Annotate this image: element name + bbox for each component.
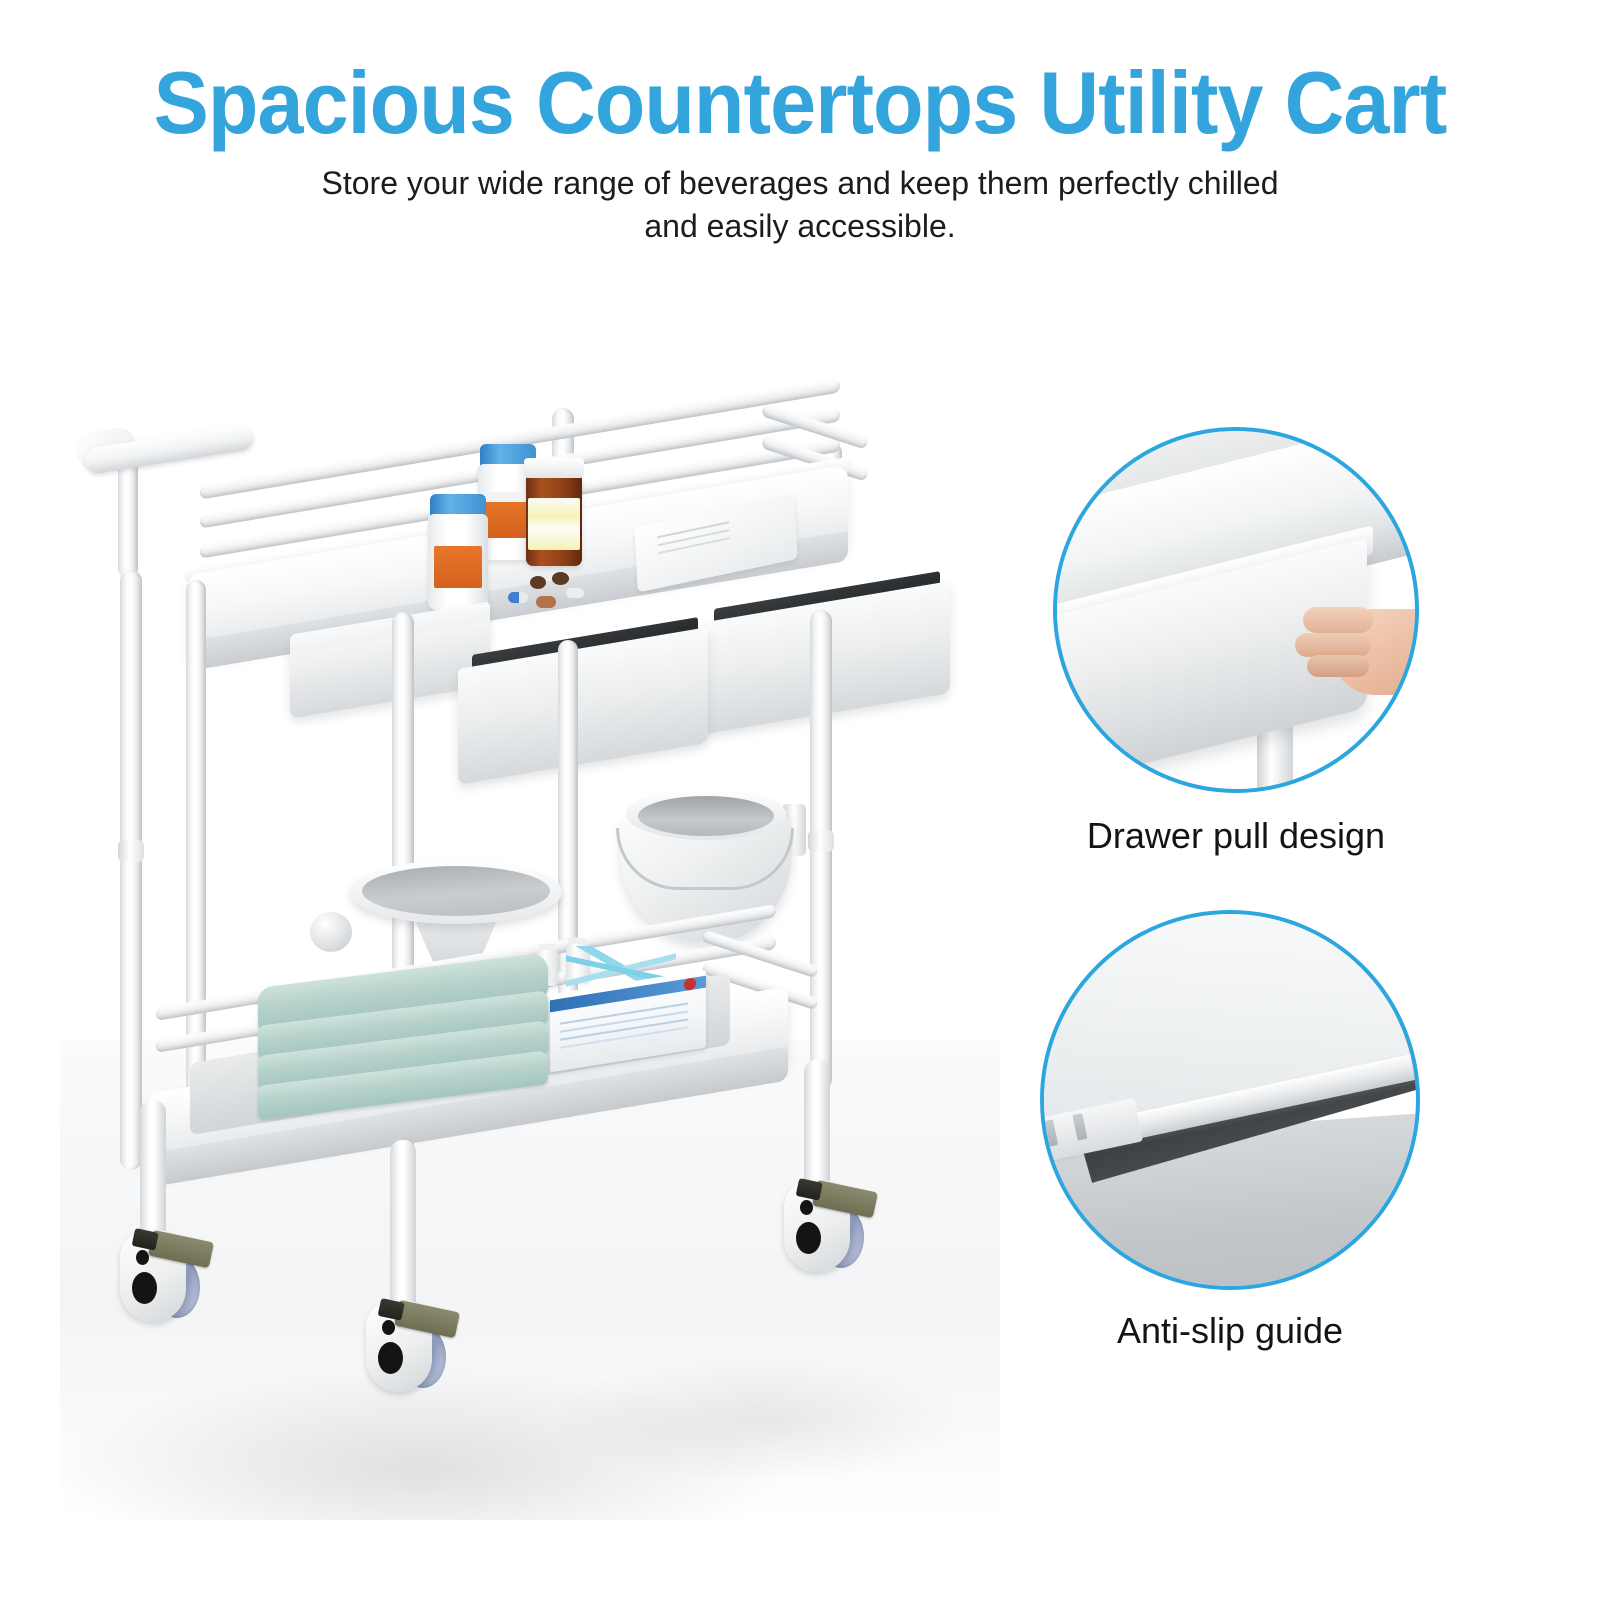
hand-finger-2 <box>1295 633 1371 657</box>
cart-leg-front-left <box>186 580 206 1140</box>
caster-hole-large-right <box>796 1222 821 1254</box>
bottle-label-orange-front <box>434 546 482 588</box>
hand-finger-3 <box>1307 655 1369 677</box>
caster-hole-large-front <box>378 1342 403 1374</box>
bottle-label-white-rear <box>484 492 532 502</box>
hand-finger-1 <box>1303 607 1373 633</box>
dirt-bowl-interior <box>362 866 550 916</box>
pill-capsule-tan <box>536 596 556 608</box>
hand-icon <box>1297 591 1419 701</box>
caster-hole-small-left <box>136 1250 149 1265</box>
leg-collar-right <box>808 830 834 852</box>
product-image-utility-cart <box>60 400 1000 1520</box>
callout-circle-anti-slip <box>1040 910 1420 1290</box>
caster-wheel-left[interactable] <box>114 1230 206 1330</box>
callout-circle-drawer-pull <box>1053 427 1419 793</box>
pill-brown-1 <box>530 576 546 589</box>
callout-drawer-pull: Drawer pull design <box>1053 427 1419 867</box>
page-title: Spacious Countertops Utility Cart <box>48 58 1552 148</box>
callout-caption-drawer-pull: Drawer pull design <box>1053 815 1419 857</box>
pill-brown-2 <box>552 572 569 585</box>
caster-hole-large-left <box>132 1272 157 1304</box>
bucket-interior <box>638 796 774 836</box>
prescription-bottle-label <box>528 498 580 550</box>
caster-hole-small-front <box>382 1320 395 1335</box>
callout-anti-slip: Anti-slip guide <box>1040 910 1420 1360</box>
subtitle-line-1: Store your wide range of beverages and k… <box>322 165 1279 201</box>
page-subtitle: Store your wide range of beverages and k… <box>0 162 1600 247</box>
dirt-bowl-knob[interactable] <box>310 912 352 952</box>
prescription-bottle-cap <box>524 458 584 478</box>
folded-towel-stack <box>258 970 548 1110</box>
bottle-label-orange-rear <box>484 498 532 538</box>
caster-hole-small-right <box>800 1200 813 1215</box>
page-root: Spacious Countertops Utility Cart Store … <box>0 0 1600 1600</box>
leg-collar-left <box>118 840 144 862</box>
cart-leg-rear-left <box>120 570 142 1170</box>
caster-wheel-right[interactable] <box>778 1180 870 1280</box>
pill-white <box>566 588 584 598</box>
caster-wheel-front[interactable] <box>360 1300 452 1400</box>
prescription-bottle-amber <box>526 474 582 566</box>
callout-caption-anti-slip: Anti-slip guide <box>1040 1310 1420 1352</box>
pill-capsule-blue <box>508 592 528 603</box>
subtitle-line-2: and easily accessible. <box>0 205 1600 248</box>
